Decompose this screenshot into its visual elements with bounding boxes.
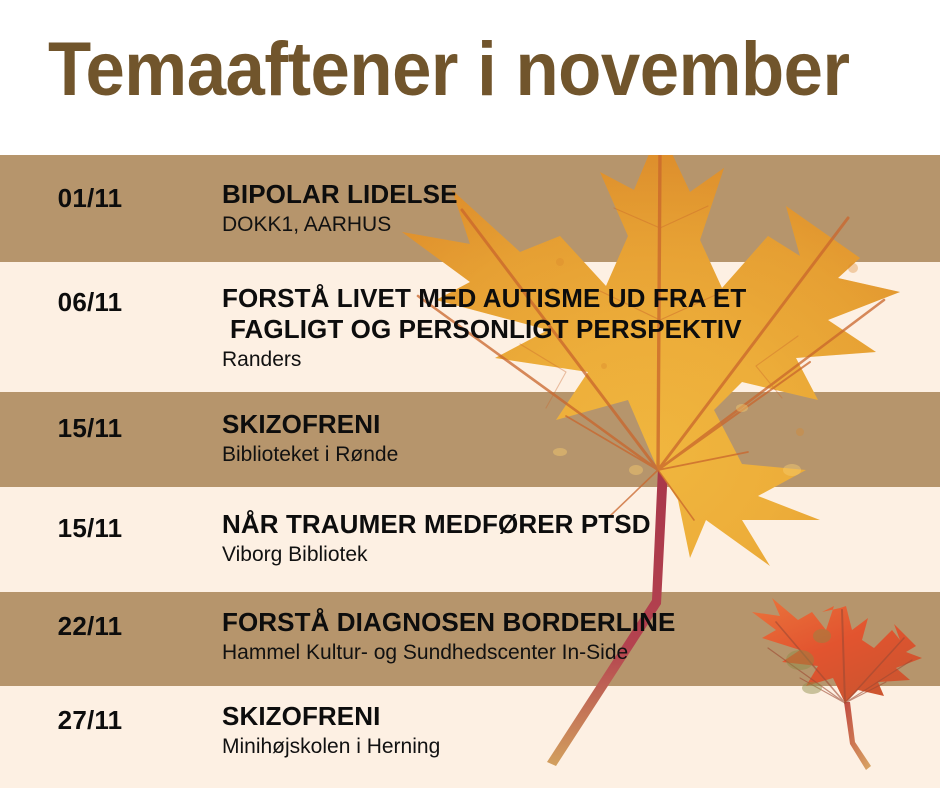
row-body: NÅR TRAUMER MEDFØRER PTSD Viborg Bibliot… <box>222 509 930 568</box>
row-title: SKIZOFRENI <box>222 409 930 440</box>
row-date: 15/11 <box>0 513 180 543</box>
page-title: Temaaftener i november <box>48 26 850 114</box>
row-body: FORSTÅ DIAGNOSEN BORDERLINE Hammel Kultu… <box>222 607 930 666</box>
schedule-text-layer: 01/11 BIPOLAR LIDELSE DOKK1, AARHUS 06/1… <box>0 155 940 788</box>
row-title: SKIZOFRENI <box>222 701 930 732</box>
poster-canvas: Temaaftener i november 01/11 BIPOLAR LID… <box>0 0 940 788</box>
row-date: 27/11 <box>0 705 180 735</box>
row-body: BIPOLAR LIDELSE DOKK1, AARHUS <box>222 179 930 238</box>
row-title-line2: FAGLIGT OG PERSONLIGT PERSPEKTIV <box>222 314 930 345</box>
row-title: NÅR TRAUMER MEDFØRER PTSD <box>222 509 930 540</box>
row-date: 06/11 <box>0 287 180 317</box>
row-title: BIPOLAR LIDELSE <box>222 179 930 210</box>
row-venue: Randers <box>222 347 930 373</box>
row-date: 22/11 <box>0 611 180 641</box>
row-venue: Viborg Bibliotek <box>222 542 930 568</box>
row-venue: Biblioteket i Rønde <box>222 442 930 468</box>
row-body: SKIZOFRENI Biblioteket i Rønde <box>222 409 930 468</box>
row-date: 01/11 <box>0 183 180 213</box>
row-title: FORSTÅ DIAGNOSEN BORDERLINE <box>222 607 930 638</box>
row-body: SKIZOFRENI Minihøjskolen i Herning <box>222 701 930 760</box>
row-venue: DOKK1, AARHUS <box>222 212 930 238</box>
row-title: FORSTÅ LIVET MED AUTISME UD FRA ET <box>222 283 930 314</box>
header-band: Temaaftener i november <box>0 0 940 155</box>
row-venue: Minihøjskolen i Herning <box>222 734 930 760</box>
row-venue: Hammel Kultur- og Sundhedscenter In-Side <box>222 640 930 666</box>
row-date: 15/11 <box>0 413 180 443</box>
row-body: FORSTÅ LIVET MED AUTISME UD FRA ET FAGLI… <box>222 283 930 373</box>
